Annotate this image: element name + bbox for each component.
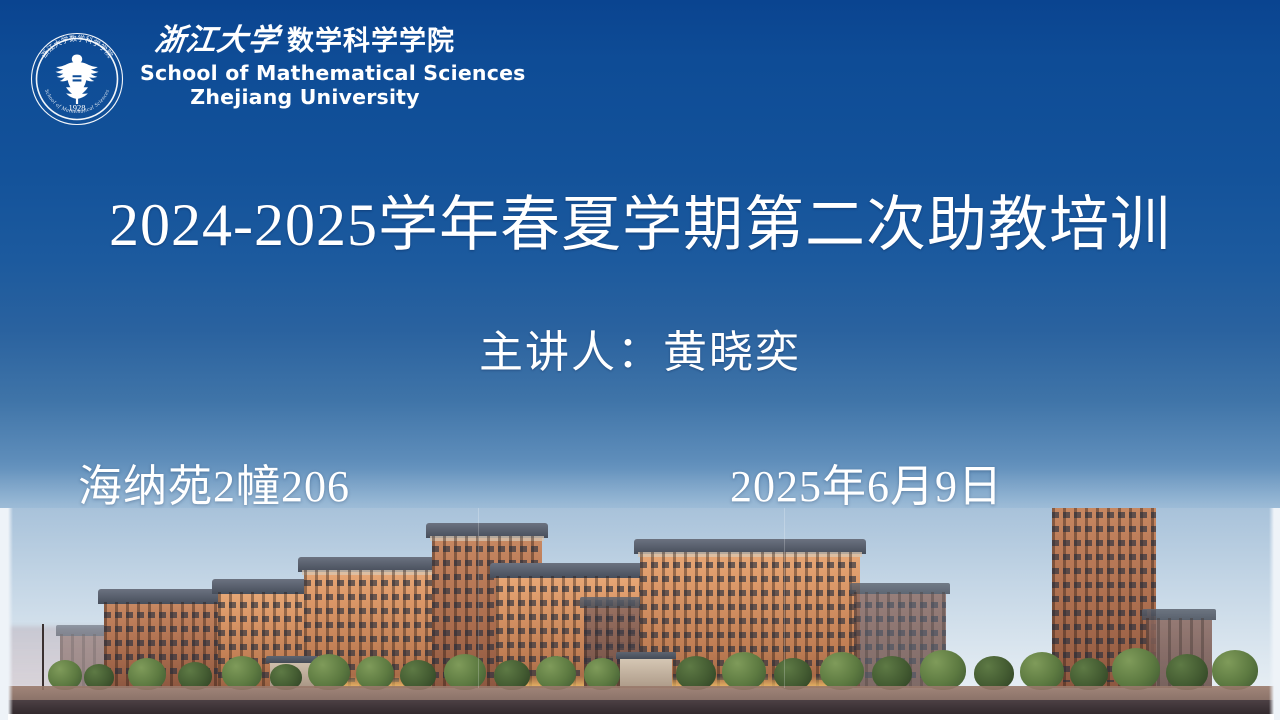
tree bbox=[222, 656, 262, 690]
tree bbox=[872, 656, 912, 690]
road bbox=[8, 700, 1274, 714]
tree bbox=[1166, 654, 1208, 690]
logo-wordmark: 浙江大学 数学科学学院 School of Mathematical Scien… bbox=[140, 26, 470, 109]
zju-seal-emblem: 浙江大学数学科学学院 School of Mathematical Scienc… bbox=[28, 30, 126, 128]
slide-bottom-margin bbox=[0, 714, 1280, 720]
tree bbox=[722, 652, 766, 690]
presentation-slide: 浙江大学数学科学学院 School of Mathematical Scienc… bbox=[0, 0, 1280, 720]
lamp-post bbox=[42, 624, 44, 690]
tree bbox=[974, 656, 1014, 690]
tree bbox=[308, 654, 350, 690]
logo-university-en: Zhejiang University bbox=[140, 86, 470, 110]
logo-chinese-line: 浙江大学 数学科学学院 bbox=[140, 26, 470, 56]
photo-seam bbox=[478, 508, 479, 688]
slide-right-margin bbox=[1274, 508, 1280, 720]
photo-seam bbox=[784, 508, 785, 688]
tree bbox=[1112, 648, 1160, 690]
tree bbox=[920, 650, 966, 690]
tree bbox=[1212, 650, 1258, 690]
tree bbox=[820, 652, 864, 690]
tree bbox=[676, 656, 716, 690]
speaker-line: 主讲人：黄晓奕 bbox=[0, 316, 1280, 380]
slide-title: 2024-2025学年春夏学期第二次助教培训 bbox=[0, 176, 1280, 263]
campus-rendering-photo bbox=[8, 508, 1274, 714]
date-line: 2025年6月9日 bbox=[730, 450, 1003, 514]
tree bbox=[356, 656, 394, 690]
tree bbox=[1020, 652, 1064, 690]
tree bbox=[444, 654, 486, 690]
logo-school-cn: 数学科学学院 bbox=[287, 28, 455, 55]
photo-left-edge bbox=[8, 508, 13, 714]
logo-school-en: School of Mathematical Sciences bbox=[140, 62, 470, 86]
logo-university-cn: 浙江大学 bbox=[153, 26, 281, 56]
entrance-pavilion-centre bbox=[620, 658, 672, 688]
school-logo: 浙江大学数学科学学院 School of Mathematical Scienc… bbox=[22, 22, 462, 134]
tree bbox=[536, 656, 576, 690]
venue-line: 海纳苑2幢206 bbox=[78, 450, 350, 514]
slide-left-margin bbox=[0, 508, 8, 720]
seal-year: 1928 bbox=[69, 103, 86, 113]
